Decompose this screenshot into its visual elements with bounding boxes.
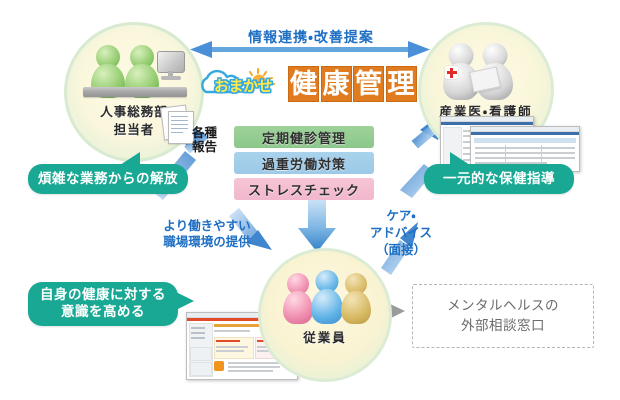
- label-various-reports-line2: 報告: [192, 140, 214, 154]
- three-employees-icon: [261, 251, 389, 379]
- label-various-reports-line1: 各種: [192, 126, 214, 140]
- service-box-stress-check[interactable]: ストレスチェック: [234, 178, 374, 200]
- monitor-icon: [157, 51, 185, 73]
- external-counselling-line1: メンタルヘルスの: [447, 296, 559, 316]
- label-care-line2: アドバイス: [364, 225, 438, 242]
- label-workplace-environment: より働きやすい 職場環境の提供: [140, 218, 274, 251]
- external-counselling-box: メンタルヘルスの 外部相談窓口: [412, 284, 594, 348]
- desk-icon: [83, 87, 187, 97]
- callout-hr-benefit-text: 煩雑な業務からの解放: [38, 171, 178, 188]
- employee-figure-blue: [311, 270, 343, 323]
- brand-char-3: 管: [353, 66, 384, 102]
- medical-cross-icon: [445, 66, 458, 79]
- callout-doctor-benefit-text: 一元的な保健指導: [443, 171, 555, 188]
- service-box-health-checkup[interactable]: 定期健診管理: [234, 126, 374, 148]
- brand-char-1: 健: [288, 66, 319, 102]
- service-box-overwork-measures[interactable]: 過重労働対策: [234, 152, 374, 174]
- brand-logo: おまかせ 健康管理: [196, 62, 386, 102]
- callout-employee-line1: 自身の健康に対する: [40, 287, 166, 304]
- callout-hr-benefit: 煩雑な業務からの解放: [28, 164, 188, 194]
- node-employee-label: 従業員: [261, 327, 389, 346]
- label-care-line1: ケア・: [364, 208, 438, 225]
- employee-figure-gold: [341, 273, 371, 323]
- employee-figure-pink: [283, 273, 313, 323]
- cloud-sun-icon: おまかせ: [196, 68, 288, 98]
- callout-doctor-benefit: 一元的な保健指導: [424, 164, 574, 194]
- label-info-exchange: 情報連携・改善提案: [195, 28, 427, 46]
- arrow-center-to-employees: [298, 198, 336, 252]
- node-employees: 従業員: [258, 248, 392, 382]
- label-workplace-line2: 職場環境の提供: [140, 234, 274, 250]
- label-workplace-line1: より働きやすい: [140, 218, 274, 234]
- brand-kenkokanri-text: 健康管理: [288, 62, 418, 102]
- callout-employee-line2: 意識を高める: [40, 304, 166, 321]
- brand-char-4: 理: [386, 66, 417, 102]
- brand-char-2: 康: [321, 66, 352, 102]
- external-counselling-line2: 外部相談窓口: [447, 316, 559, 336]
- brand-omakase-text: おまかせ: [204, 75, 282, 96]
- label-various-reports: 各種 報告: [192, 126, 214, 155]
- callout-employee-benefit: 自身の健康に対する 意識を高める: [28, 282, 178, 326]
- diagram-canvas: 情報連携・改善提案 人事総務部 担当者: [0, 0, 620, 400]
